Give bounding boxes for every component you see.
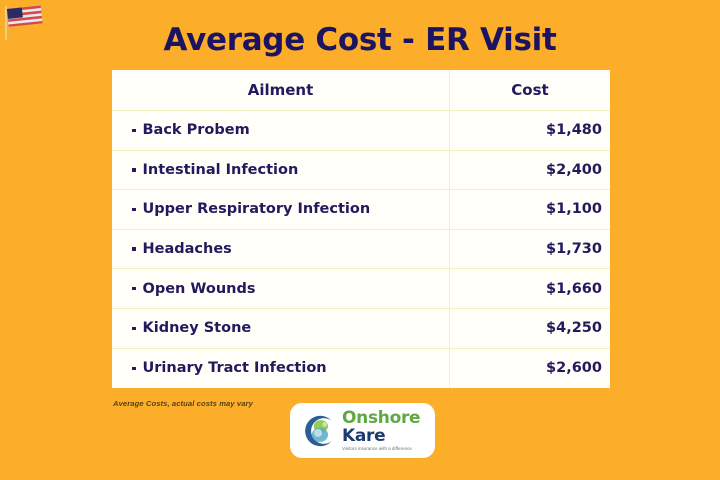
onshore-kare-logo-icon bbox=[300, 412, 338, 450]
ailment-label: Urinary Tract Infection bbox=[143, 360, 327, 376]
logo-name-kare: Kare bbox=[342, 428, 420, 445]
cell-ailment: Open Wounds bbox=[112, 269, 450, 308]
cell-ailment: Upper Respiratory Infection bbox=[112, 190, 450, 229]
brand-logo: Onshore Kare Visitors insurance with a d… bbox=[290, 403, 435, 458]
cell-cost: $1,730 bbox=[450, 230, 610, 269]
logo-name-onshore: Onshore bbox=[342, 410, 420, 427]
table-row: Intestinal Infection $2,400 bbox=[112, 151, 610, 191]
cell-ailment: Intestinal Infection bbox=[112, 151, 450, 190]
cell-cost: $2,400 bbox=[450, 151, 610, 190]
cell-cost: $1,100 bbox=[450, 190, 610, 229]
cell-ailment: Headaches bbox=[112, 230, 450, 269]
logo-tagline: Visitors insurance with a difference bbox=[342, 447, 420, 451]
table-row: Upper Respiratory Infection $1,100 bbox=[112, 190, 610, 230]
column-header-cost: Cost bbox=[450, 70, 610, 110]
table-row: Urinary Tract Infection $2,600 bbox=[112, 349, 610, 389]
cell-cost: $1,660 bbox=[450, 269, 610, 308]
bullet-icon bbox=[132, 129, 136, 133]
ailment-label: Intestinal Infection bbox=[143, 162, 299, 178]
bullet-icon bbox=[132, 247, 136, 251]
table-header-row: Ailment Cost bbox=[112, 70, 610, 111]
table-row: Kidney Stone $4,250 bbox=[112, 309, 610, 349]
column-header-ailment: Ailment bbox=[112, 70, 450, 110]
logo-text-block: Onshore Kare Visitors insurance with a d… bbox=[342, 410, 420, 451]
bullet-icon bbox=[132, 208, 136, 212]
bullet-icon bbox=[132, 168, 136, 172]
ailment-label: Kidney Stone bbox=[143, 320, 252, 336]
ailment-label: Open Wounds bbox=[143, 281, 256, 297]
footnote-text: Average Costs, actual costs may vary bbox=[113, 399, 253, 408]
cost-table: Ailment Cost Back Probem $1,480 Intestin… bbox=[112, 70, 610, 388]
table-row: Headaches $1,730 bbox=[112, 230, 610, 270]
cell-ailment: Urinary Tract Infection bbox=[112, 349, 450, 389]
ailment-label: Back Probem bbox=[143, 122, 250, 138]
ailment-label: Upper Respiratory Infection bbox=[143, 201, 371, 217]
page-title: Average Cost - ER Visit bbox=[0, 22, 720, 58]
cell-ailment: Back Probem bbox=[112, 111, 450, 150]
ailment-label: Headaches bbox=[143, 241, 232, 257]
bullet-icon bbox=[132, 327, 136, 331]
cell-cost: $1,480 bbox=[450, 111, 610, 150]
cell-cost: $4,250 bbox=[450, 309, 610, 348]
cell-ailment: Kidney Stone bbox=[112, 309, 450, 348]
table-row: Back Probem $1,480 bbox=[112, 111, 610, 151]
bullet-icon bbox=[132, 287, 136, 291]
bullet-icon bbox=[132, 367, 136, 371]
table-row: Open Wounds $1,660 bbox=[112, 269, 610, 309]
infographic-canvas: Average Cost - ER Visit Ailment Cost Bac… bbox=[0, 0, 720, 480]
cell-cost: $2,600 bbox=[450, 349, 610, 389]
